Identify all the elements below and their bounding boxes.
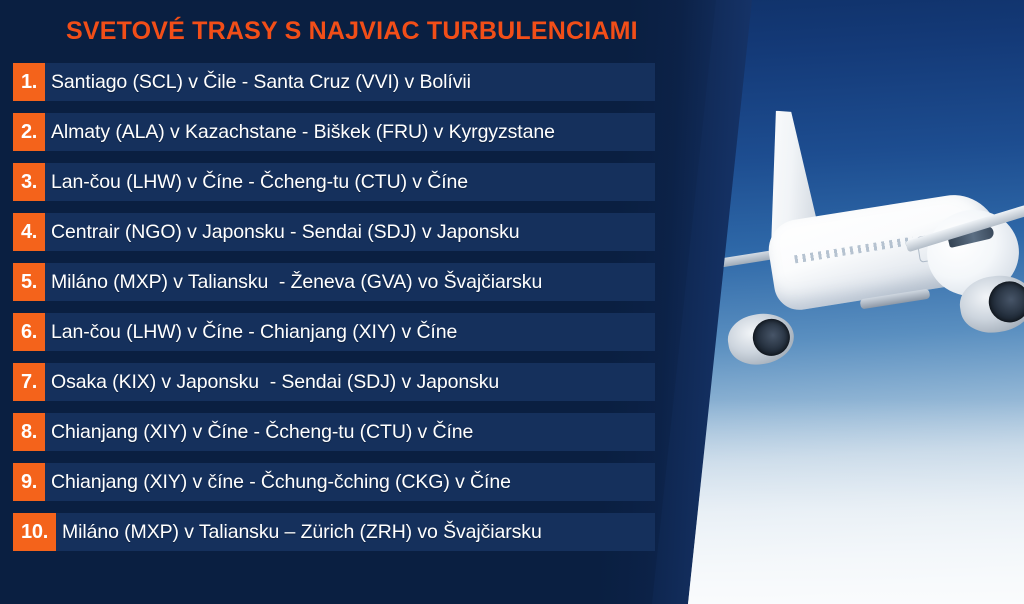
list-item: 8. Chianjang (XIY) v Číne - Čcheng-tu (C… (0, 413, 660, 451)
rank-badge: 6. (13, 313, 45, 351)
route-label: Miláno (MXP) v Taliansku – Zürich (ZRH) … (56, 513, 542, 551)
airplane-icon (742, 118, 1024, 358)
rank-badge: 1. (13, 63, 45, 101)
route-label: Centrair (NGO) v Japonsku - Sendai (SDJ)… (45, 213, 520, 251)
list-item: 4. Centrair (NGO) v Japonsku - Sendai (S… (0, 213, 660, 251)
list-item: 2. Almaty (ALA) v Kazachstane - Biškek (… (0, 113, 660, 151)
rank-badge: 2. (13, 113, 45, 151)
route-label: Chianjang (XIY) v číne - Čchung-čching (… (45, 463, 511, 501)
route-label: Lan-čou (LHW) v Číne - Čcheng-tu (CTU) v… (45, 163, 468, 201)
route-label: Chianjang (XIY) v Číne - Čcheng-tu (CTU)… (45, 413, 473, 451)
infographic-canvas: SVETOVÉ TRASY S NAJVIAC TURBULENCIAMI 1.… (0, 0, 1024, 604)
route-label: Santiago (SCL) v Čile - Santa Cruz (VVI)… (45, 63, 471, 101)
rank-badge: 7. (13, 363, 45, 401)
rank-badge: 9. (13, 463, 45, 501)
list-item: 9. Chianjang (XIY) v číne - Čchung-čchin… (0, 463, 660, 501)
list-item: 6. Lan-čou (LHW) v Číne - Chianjang (XIY… (0, 313, 660, 351)
route-label: Lan-čou (LHW) v Číne - Chianjang (XIY) v… (45, 313, 457, 351)
list-item: 1. Santiago (SCL) v Čile - Santa Cruz (V… (0, 63, 660, 101)
rank-badge: 3. (13, 163, 45, 201)
list-item: 7. Osaka (KIX) v Japonsku - Sendai (SDJ)… (0, 363, 660, 401)
rank-badge: 5. (13, 263, 45, 301)
page-title: SVETOVÉ TRASY S NAJVIAC TURBULENCIAMI (66, 17, 638, 46)
list-item: 3. Lan-čou (LHW) v Číne - Čcheng-tu (CTU… (0, 163, 660, 201)
rank-badge: 10. (13, 513, 56, 551)
rank-badge: 8. (13, 413, 45, 451)
route-label: Miláno (MXP) v Taliansku - Ženeva (GVA) … (45, 263, 542, 301)
route-label: Almaty (ALA) v Kazachstane - Biškek (FRU… (45, 113, 555, 151)
rank-badge: 4. (13, 213, 45, 251)
list-item: 10. Miláno (MXP) v Taliansku – Zürich (Z… (0, 513, 660, 551)
list-item: 5. Miláno (MXP) v Taliansku - Ženeva (GV… (0, 263, 660, 301)
route-label: Osaka (KIX) v Japonsku - Sendai (SDJ) v … (45, 363, 499, 401)
routes-list: 1. Santiago (SCL) v Čile - Santa Cruz (V… (0, 63, 660, 563)
